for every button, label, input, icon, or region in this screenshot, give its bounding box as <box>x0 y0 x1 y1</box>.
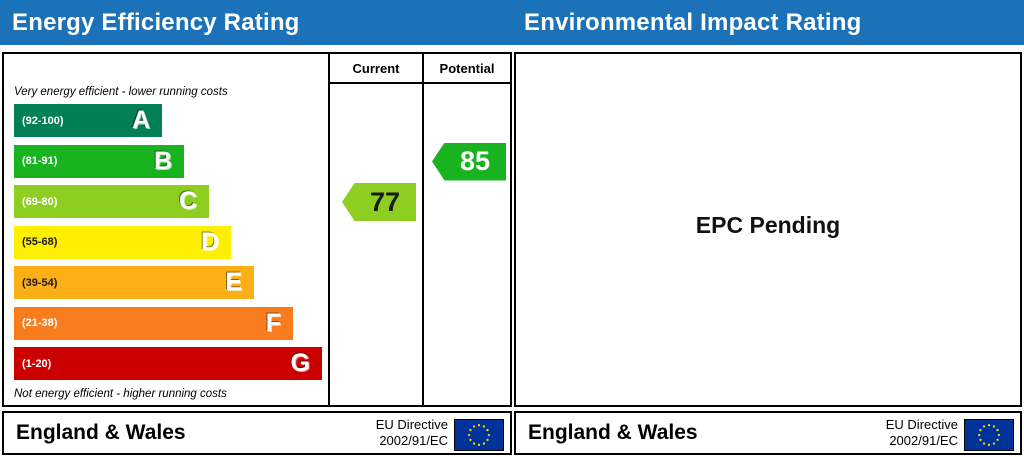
epc-chart-page: Energy Efficiency Rating Environmental I… <box>0 0 1024 457</box>
band-range-label: (39-54) <box>14 277 57 289</box>
footer-region-label-right: England & Wales <box>528 421 698 445</box>
band-letter-label: D <box>201 230 231 255</box>
rating-band-d: (55-68)D <box>14 226 231 259</box>
footer-right: England & Wales EU Directive 2002/91/EC <box>514 411 1022 455</box>
column-header-underline <box>328 82 510 84</box>
caption-not-efficient: Not energy efficient - higher running co… <box>14 388 227 400</box>
band-letter-label: E <box>225 270 254 295</box>
directive-line-1: EU Directive <box>376 417 448 433</box>
band-letter-label: A <box>132 108 162 133</box>
band-range-label: (21-38) <box>14 317 57 329</box>
eu-stars <box>455 420 503 450</box>
column-header-current: Current <box>330 59 422 79</box>
rating-band-f: (21-38)F <box>14 307 293 340</box>
footer-region-label-left: England & Wales <box>16 421 186 445</box>
caption-very-efficient: Very energy efficient - lower running co… <box>14 86 228 98</box>
band-letter-label: B <box>154 149 184 174</box>
directive-line-2: 2002/91/EC <box>376 433 448 449</box>
column-divider-current <box>328 54 330 405</box>
rating-band-c: (69-80)C <box>14 185 209 218</box>
rating-band-g: (1-20)G <box>14 347 322 380</box>
band-range-label: (55-68) <box>14 236 57 248</box>
epc-pending-message: EPC Pending <box>516 212 1020 239</box>
rating-band-a: (92-100)A <box>14 104 162 137</box>
band-letter-label: C <box>179 189 209 214</box>
band-letter-label: F <box>266 311 293 336</box>
band-range-label: (69-80) <box>14 196 57 208</box>
column-header-potential: Potential <box>424 59 510 79</box>
energy-efficiency-title: Energy Efficiency Rating <box>12 9 300 37</box>
current-rating-arrow: 77 <box>342 183 416 221</box>
potential-rating-arrow: 85 <box>432 143 506 181</box>
column-divider-potential <box>422 54 424 405</box>
band-range-label: (92-100) <box>14 115 64 127</box>
footer-left: England & Wales EU Directive 2002/91/EC <box>2 411 512 455</box>
rating-bands-area: Very energy efficient - lower running co… <box>4 82 328 407</box>
eu-flag-icon-right <box>964 419 1014 451</box>
band-letter-label: G <box>291 351 322 376</box>
rating-band-e: (39-54)E <box>14 266 254 299</box>
band-range-label: (81-91) <box>14 155 57 167</box>
directive-line-1: EU Directive <box>886 417 958 433</box>
band-range-label: (1-20) <box>14 358 51 370</box>
rating-band-b: (81-91)B <box>14 145 184 178</box>
footer-directive-right: EU Directive 2002/91/EC <box>886 417 958 449</box>
environmental-impact-panel: EPC Pending <box>514 52 1022 407</box>
energy-efficiency-panel: Current Potential Very energy efficient … <box>2 52 512 407</box>
directive-line-2: 2002/91/EC <box>886 433 958 449</box>
eu-stars <box>965 420 1013 450</box>
eu-flag-icon-left <box>454 419 504 451</box>
footer-directive-left: EU Directive 2002/91/EC <box>376 417 448 449</box>
environmental-impact-title: Environmental Impact Rating <box>524 9 861 37</box>
